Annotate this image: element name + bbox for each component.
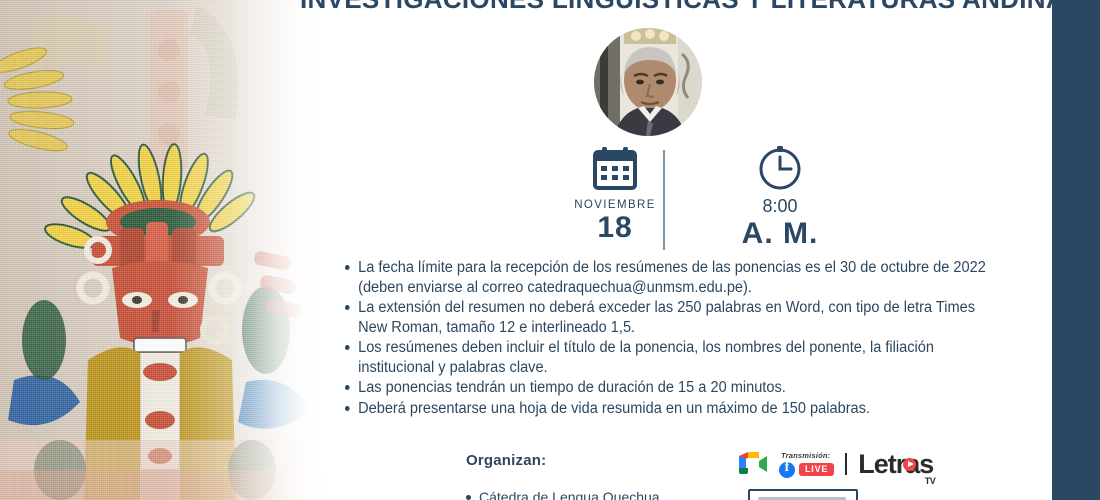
right-accent-bar	[1052, 0, 1100, 500]
list-item: La extensión del resumen no deberá exced…	[344, 298, 993, 337]
list-item: La fecha límite para la recepción de los…	[344, 258, 993, 297]
requirements-list: La fecha límite para la recepción de los…	[344, 258, 1034, 419]
letras-tv-logo[interactable]: Letras TV	[858, 451, 933, 478]
clock-icon	[685, 144, 875, 192]
event-poster: INVESTIGACIONES LINGÜÍSTICAS Y LITERATUR…	[0, 0, 1100, 500]
google-meet-icon[interactable]	[736, 450, 770, 478]
datetime-divider	[663, 150, 665, 250]
list-item: Las ponencias tendrán un tiempo de durac…	[344, 378, 993, 398]
divider	[845, 453, 847, 475]
organizers-heading: Organizan:	[466, 452, 660, 469]
event-meridiem: A. M.	[685, 219, 875, 249]
channel-suffix: TV	[925, 476, 936, 486]
play-icon	[903, 458, 916, 471]
page-title: INVESTIGACIONES LINGÜÍSTICAS Y LITERATUR…	[300, 0, 1060, 15]
andean-textile-image	[0, 0, 330, 500]
image-fade-overlay	[0, 0, 330, 500]
list-item: Deberá presentarse una hoja de vida resu…	[344, 399, 993, 419]
live-badge: LIVE	[799, 463, 834, 477]
event-datetime: NOVIEMBRE 18 8:00 A. M.	[500, 144, 830, 252]
event-month-label: NOVIEMBRE	[520, 199, 710, 211]
meet-link-box[interactable]	[748, 489, 858, 500]
transmission-label: Transmisión:	[781, 451, 830, 460]
organizers-section: Organizan: Cátedra de Lengua Quechua	[466, 452, 660, 500]
live-row: LIVE	[779, 462, 834, 478]
event-hour: 8:00	[685, 196, 875, 217]
organizers-list: Cátedra de Lengua Quechua	[466, 489, 660, 500]
channel-name: Letras	[858, 449, 933, 479]
speaker-portrait	[594, 28, 702, 136]
portrait-photo	[594, 28, 702, 136]
broadcast-section: Transmisión: LIVE Letras TV	[736, 450, 933, 478]
facebook-live-group: Transmisión: LIVE	[779, 451, 834, 478]
list-item: Cátedra de Lengua Quechua	[466, 489, 660, 500]
facebook-icon[interactable]	[779, 462, 795, 478]
calendar-icon	[520, 144, 710, 192]
event-day: 18	[520, 213, 710, 243]
list-item: Los resúmenes deben incluir el título de…	[344, 338, 993, 377]
event-time: 8:00 A. M.	[685, 144, 875, 249]
event-date: NOVIEMBRE 18	[520, 144, 710, 243]
